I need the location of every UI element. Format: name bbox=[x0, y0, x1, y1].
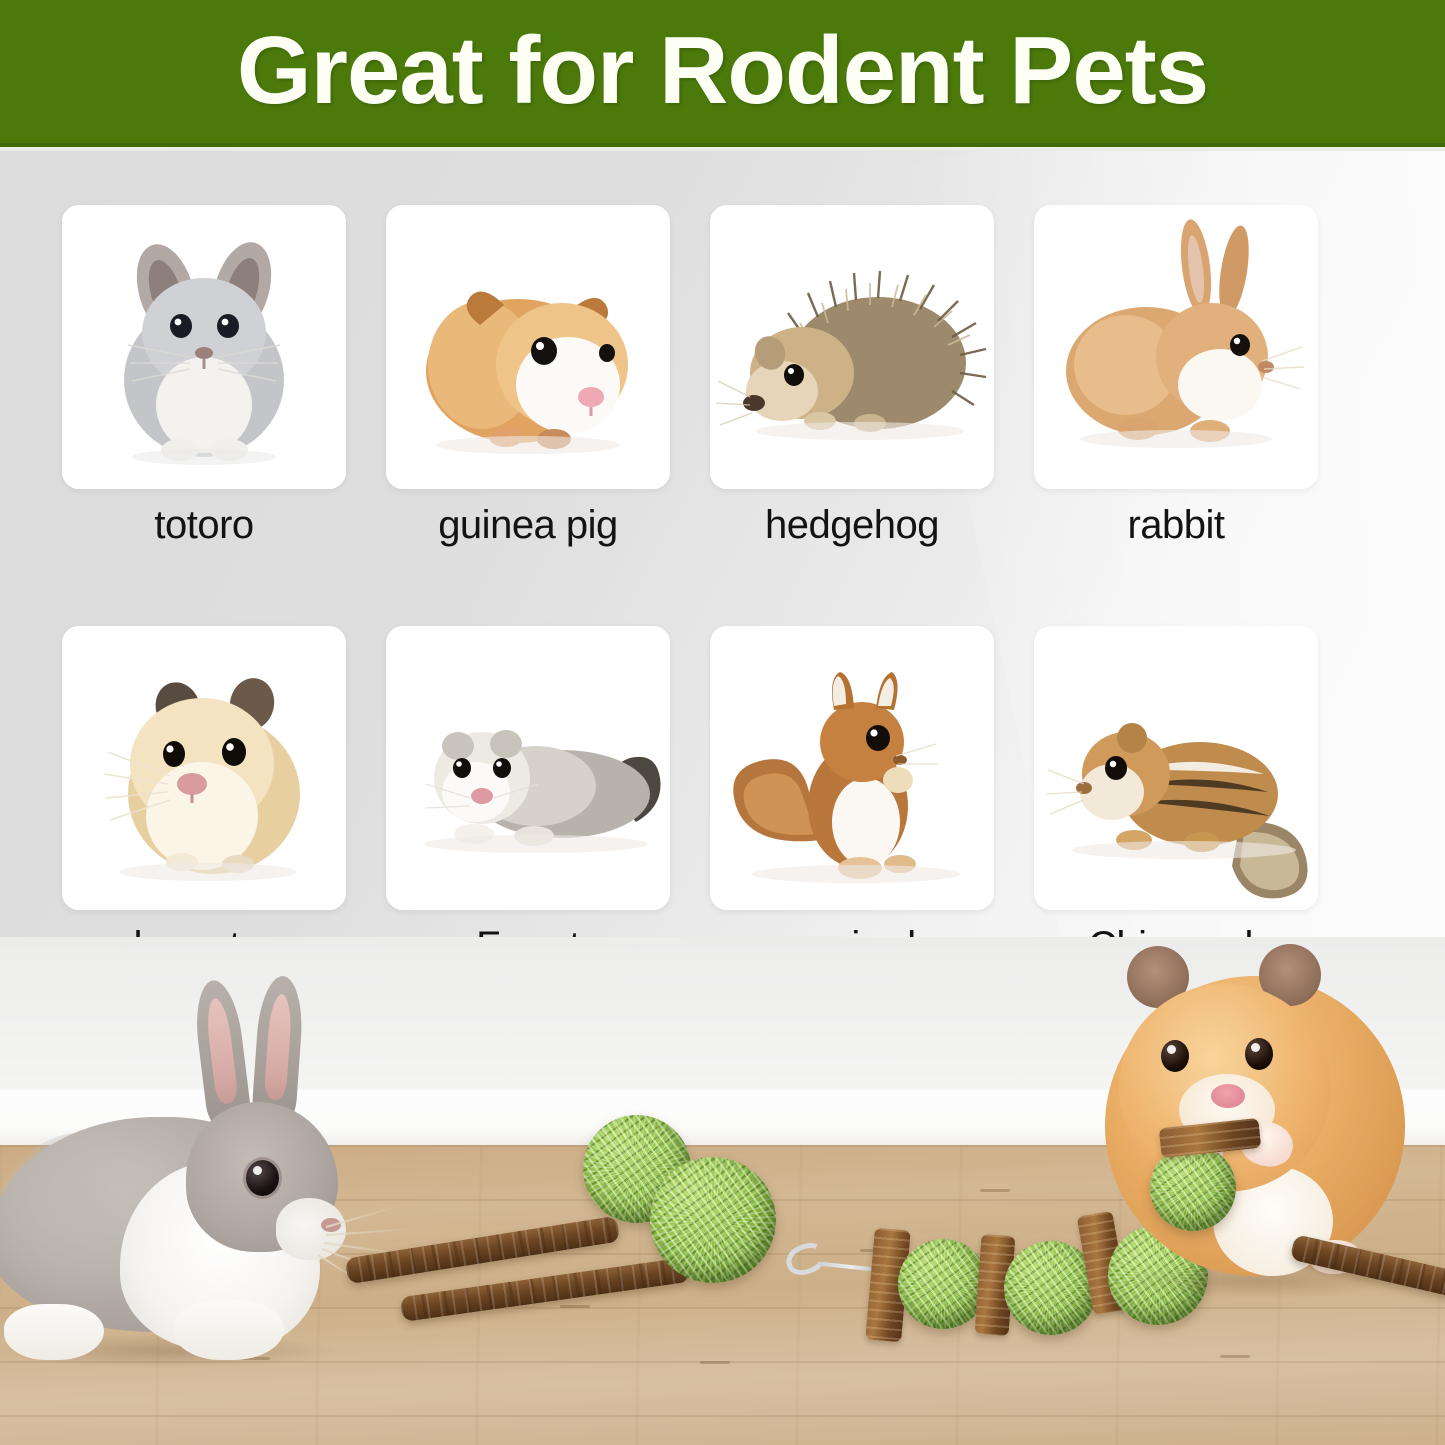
scene-rabbit bbox=[0, 982, 418, 1382]
pet-cell-rabbit[interactable]: rabbit bbox=[1034, 205, 1318, 548]
rabbit-photo bbox=[1034, 205, 1318, 489]
page-title: Great for Rodent Pets bbox=[237, 23, 1208, 119]
hedgehog-photo bbox=[710, 205, 994, 489]
pet-cell-hamster[interactable]: hamster bbox=[62, 626, 346, 969]
hamster-illustration bbox=[62, 626, 346, 910]
ferret-photo bbox=[386, 626, 670, 910]
pet-cell-chipmunk[interactable]: Chipmunk bbox=[1034, 626, 1318, 969]
pet-label: totoro bbox=[62, 503, 346, 548]
chinchilla-illustration bbox=[62, 205, 346, 489]
pet-cell-totoro[interactable]: totoro bbox=[62, 205, 346, 548]
hamster-photo bbox=[62, 626, 346, 910]
guinea-pig-photo bbox=[386, 205, 670, 489]
pet-label: rabbit bbox=[1034, 503, 1318, 548]
pet-cell-ferret[interactable]: Ferret bbox=[386, 626, 670, 969]
rabbit-illustration bbox=[1034, 205, 1318, 489]
ferret-illustration bbox=[386, 626, 670, 910]
pet-cell-guinea-pig[interactable]: guinea pig bbox=[386, 205, 670, 548]
guinea-pig-illustration bbox=[386, 205, 670, 489]
green-grass-ball bbox=[898, 1239, 988, 1329]
pet-grid-row: totoro bbox=[62, 205, 1320, 548]
product-lifestyle-scene bbox=[0, 937, 1445, 1445]
pet-label: hedgehog bbox=[710, 503, 994, 548]
chipmunk-illustration bbox=[1034, 626, 1318, 910]
pet-grid: totoro bbox=[62, 205, 1320, 969]
pet-cell-hedgehog[interactable]: hedgehog bbox=[710, 205, 994, 548]
chipmunk-photo bbox=[1034, 626, 1318, 910]
pet-cell-squirrel[interactable]: squirrel bbox=[710, 626, 994, 969]
green-grass-ball bbox=[650, 1157, 776, 1283]
scene-hamster bbox=[1093, 937, 1423, 1364]
header-banner: Great for Rodent Pets bbox=[0, 0, 1445, 147]
green-grass-ball bbox=[1150, 1145, 1236, 1231]
pet-label: guinea pig bbox=[386, 503, 670, 548]
pet-grid-row: hamster bbox=[62, 626, 1320, 969]
chinchilla-photo bbox=[62, 205, 346, 489]
squirrel-illustration bbox=[710, 626, 994, 910]
hedgehog-illustration bbox=[710, 205, 994, 489]
squirrel-photo bbox=[710, 626, 994, 910]
